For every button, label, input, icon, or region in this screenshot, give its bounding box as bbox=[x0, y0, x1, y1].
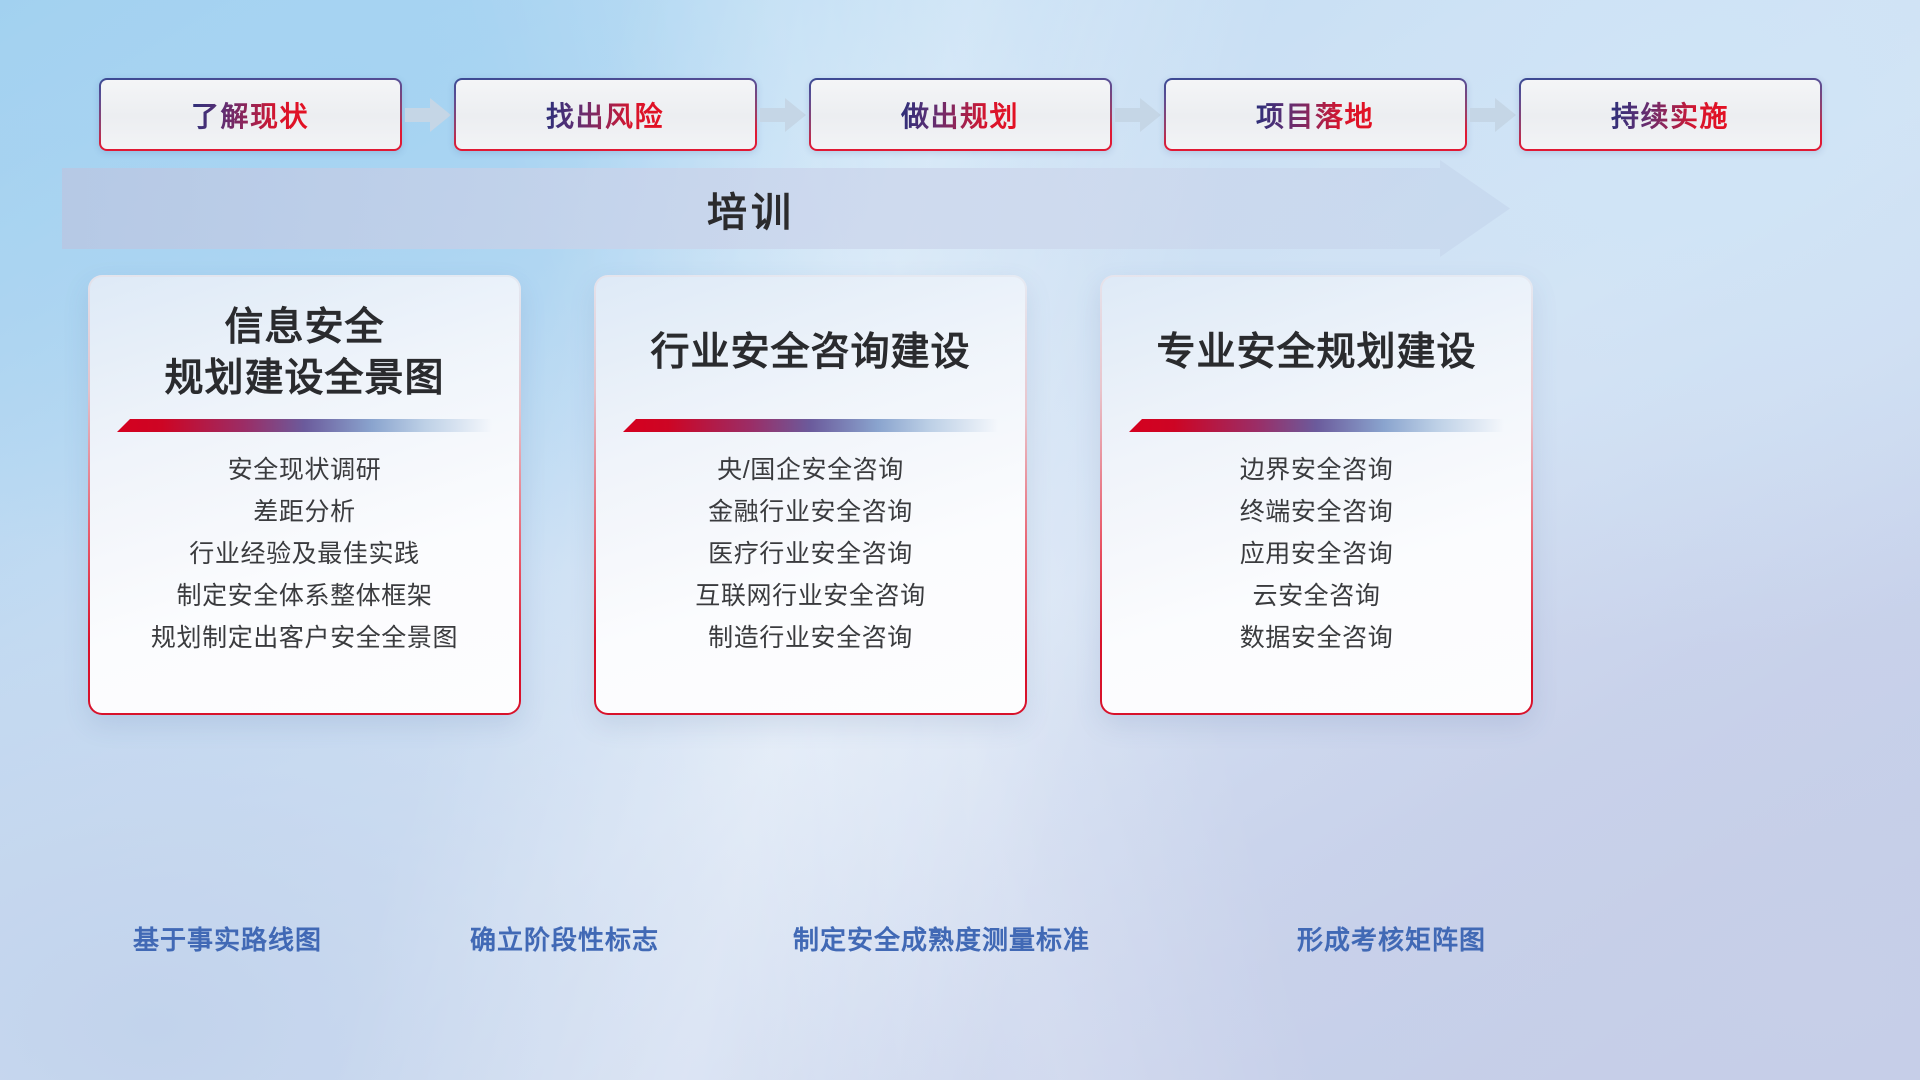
list-item: 互联网行业安全咨询 bbox=[695, 580, 925, 612]
step-pill-1[interactable]: 了解现状 bbox=[99, 78, 402, 151]
step-pill-3[interactable]: 做出规划 bbox=[809, 78, 1112, 151]
step-pill-3-label: 做出规划 bbox=[901, 95, 1019, 135]
list-item: 金融行业安全咨询 bbox=[708, 496, 913, 528]
card-3-inner: 专业安全规划建设 边界安全咨询 终端安全咨询 应用安全咨询 云安全咨询 数据安全… bbox=[1102, 277, 1531, 713]
card-3-list: 边界安全咨询 终端安全咨询 应用安全咨询 云安全咨询 数据安全咨询 bbox=[1240, 454, 1394, 654]
list-item: 安全现状调研 bbox=[228, 454, 382, 486]
right-arrow-icon bbox=[1467, 97, 1519, 133]
card-2-inner: 行业安全咨询建设 央/国企安全咨询 金融行业安全咨询 医疗行业安全咨询 互联网行… bbox=[596, 277, 1025, 713]
list-item: 云安全咨询 bbox=[1252, 580, 1380, 612]
card-1-title-line-2: 规划建设全景图 bbox=[164, 353, 444, 404]
list-item: 差距分析 bbox=[253, 496, 355, 528]
list-item: 数据安全咨询 bbox=[1240, 622, 1394, 654]
step-pill-2-label: 找出风险 bbox=[546, 95, 664, 135]
step-pill-4-label: 项目落地 bbox=[1256, 95, 1374, 135]
card-3-title: 专业安全规划建设 bbox=[1156, 301, 1476, 405]
step-pill-4[interactable]: 项目落地 bbox=[1164, 78, 1467, 151]
list-item: 边界安全咨询 bbox=[1240, 454, 1394, 486]
step-5: 持续实施 bbox=[1519, 78, 1822, 151]
step-2: 找出风险 bbox=[454, 78, 809, 151]
list-item: 央/国企安全咨询 bbox=[717, 454, 904, 486]
card-3[interactable]: 专业安全规划建设 边界安全咨询 终端安全咨询 应用安全咨询 云安全咨询 数据安全… bbox=[1100, 275, 1533, 715]
card-3-title-line-1: 专业安全规划建设 bbox=[1156, 327, 1476, 378]
card-2-list: 央/国企安全咨询 金融行业安全咨询 医疗行业安全咨询 互联网行业安全咨询 制造行… bbox=[695, 454, 925, 654]
right-arrow-icon bbox=[402, 97, 454, 133]
card-1-list: 安全现状调研 差距分析 行业经验及最佳实践 制定安全体系整体框架 规划制定出客户… bbox=[151, 454, 458, 654]
card-2-title-line-1: 行业安全咨询建设 bbox=[650, 327, 970, 378]
card-1-title-line-1: 信息安全 bbox=[164, 302, 444, 353]
cards-row: 信息安全 规划建设全景图 安全现状调研 差距分析 行业经验及最佳实践 制定安全体… bbox=[88, 275, 1533, 715]
process-steps-row: 了解现状 找出风险 做出规划 bbox=[0, 78, 1920, 151]
training-banner: 培训 bbox=[62, 160, 1510, 257]
step-4: 项目落地 bbox=[1164, 78, 1519, 151]
card-2[interactable]: 行业安全咨询建设 央/国企安全咨询 金融行业安全咨询 医疗行业安全咨询 互联网行… bbox=[594, 275, 1027, 715]
card-1[interactable]: 信息安全 规划建设全景图 安全现状调研 差距分析 行业经验及最佳实践 制定安全体… bbox=[88, 275, 521, 715]
card-2-divider bbox=[623, 419, 998, 432]
right-arrow-icon bbox=[757, 97, 809, 133]
step-pill-1-inner: 了解现状 bbox=[101, 80, 400, 149]
card-3-divider bbox=[1129, 419, 1504, 432]
card-1-divider bbox=[117, 419, 492, 432]
right-arrow-icon bbox=[1112, 97, 1164, 133]
card-1-title: 信息安全 规划建设全景图 bbox=[164, 301, 444, 405]
step-pill-3-inner: 做出规划 bbox=[811, 80, 1110, 149]
list-item: 制造行业安全咨询 bbox=[708, 622, 913, 654]
step-pill-5-label: 持续实施 bbox=[1611, 95, 1729, 135]
card-1-inner: 信息安全 规划建设全景图 安全现状调研 差距分析 行业经验及最佳实践 制定安全体… bbox=[90, 277, 519, 713]
card-2-title: 行业安全咨询建设 bbox=[650, 301, 970, 405]
bottom-label-2: 确立阶段性标志 bbox=[470, 920, 659, 957]
step-3: 做出规划 bbox=[809, 78, 1164, 151]
list-item: 医疗行业安全咨询 bbox=[708, 538, 913, 570]
step-pill-1-label: 了解现状 bbox=[191, 95, 309, 135]
list-item: 行业经验及最佳实践 bbox=[189, 538, 419, 570]
step-1: 了解现状 bbox=[99, 78, 454, 151]
step-pill-5-inner: 持续实施 bbox=[1521, 80, 1820, 149]
list-item: 制定安全体系整体框架 bbox=[176, 580, 432, 612]
list-item: 应用安全咨询 bbox=[1240, 538, 1394, 570]
step-pill-5[interactable]: 持续实施 bbox=[1519, 78, 1822, 151]
bottom-label-4: 形成考核矩阵图 bbox=[1297, 920, 1486, 957]
step-pill-4-inner: 项目落地 bbox=[1166, 80, 1465, 149]
list-item: 规划制定出客户安全全景图 bbox=[151, 622, 458, 654]
training-banner-label: 培训 bbox=[62, 160, 1440, 257]
list-item: 终端安全咨询 bbox=[1240, 496, 1394, 528]
bottom-labels-row: 基于事实路线图 确立阶段性标志 制定安全成熟度测量标准 形成考核矩阵图 bbox=[0, 920, 1920, 966]
step-pill-2[interactable]: 找出风险 bbox=[454, 78, 757, 151]
bottom-label-1: 基于事实路线图 bbox=[133, 920, 322, 957]
step-pill-2-inner: 找出风险 bbox=[456, 80, 755, 149]
bottom-label-3: 制定安全成熟度测量标准 bbox=[793, 920, 1090, 957]
